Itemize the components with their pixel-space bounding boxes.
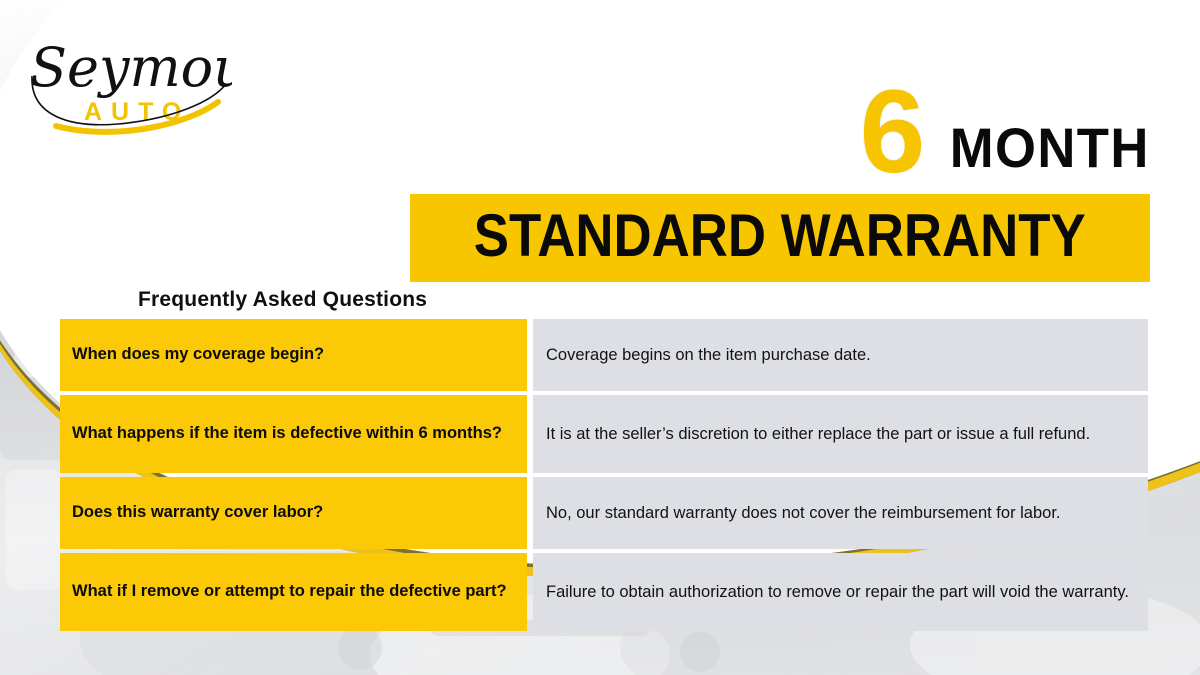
seymour-auto-logo: Seymour AUTO [22, 24, 232, 136]
faq-table: When does my coverage begin? Coverage be… [60, 319, 1148, 631]
warranty-headline: 6 MONTH STANDARD WARRANTY [410, 86, 1150, 282]
warranty-slide: Seymour AUTO 6 MONTH STANDARD WARRANTY F… [0, 0, 1200, 675]
faq-answer-text: No, our standard warranty does not cover… [546, 502, 1134, 524]
duration-unit: MONTH [950, 124, 1150, 178]
standard-warranty-bar: STANDARD WARRANTY [410, 194, 1150, 282]
faq-question-cell: What if I remove or attempt to repair th… [60, 553, 527, 631]
standard-warranty-title: STANDARD WARRANTY [474, 206, 1086, 266]
faq-question-cell: When does my coverage begin? [60, 319, 527, 391]
table-row: What if I remove or attempt to repair th… [60, 553, 1148, 631]
faq-question-text: What happens if the item is defective wi… [72, 423, 502, 444]
logo-wordmark: Seymour [30, 36, 232, 99]
table-row: Does this warranty cover labor? No, our … [60, 477, 1148, 549]
table-row: When does my coverage begin? Coverage be… [60, 319, 1148, 391]
faq-question-text: When does my coverage begin? [72, 344, 324, 365]
faq-question-cell: Does this warranty cover labor? [60, 477, 527, 549]
duration-line: 6 MONTH [410, 86, 1150, 178]
faq-answer-cell: No, our standard warranty does not cover… [533, 477, 1148, 549]
duration-number: 6 [860, 86, 924, 178]
faq-answer-text: Coverage begins on the item purchase dat… [546, 344, 1134, 366]
faq-answer-text: Failure to obtain authorization to remov… [546, 581, 1134, 603]
faq-heading: Frequently Asked Questions [138, 288, 427, 312]
faq-question-cell: What happens if the item is defective wi… [60, 395, 527, 473]
faq-question-text: Does this warranty cover labor? [72, 502, 323, 523]
faq-answer-cell: Failure to obtain authorization to remov… [533, 553, 1148, 631]
faq-answer-text: It is at the seller’s discretion to eith… [546, 423, 1134, 445]
table-row: What happens if the item is defective wi… [60, 395, 1148, 473]
faq-question-text: What if I remove or attempt to repair th… [72, 581, 507, 602]
faq-answer-cell: It is at the seller’s discretion to eith… [533, 395, 1148, 473]
faq-answer-cell: Coverage begins on the item purchase dat… [533, 319, 1148, 391]
